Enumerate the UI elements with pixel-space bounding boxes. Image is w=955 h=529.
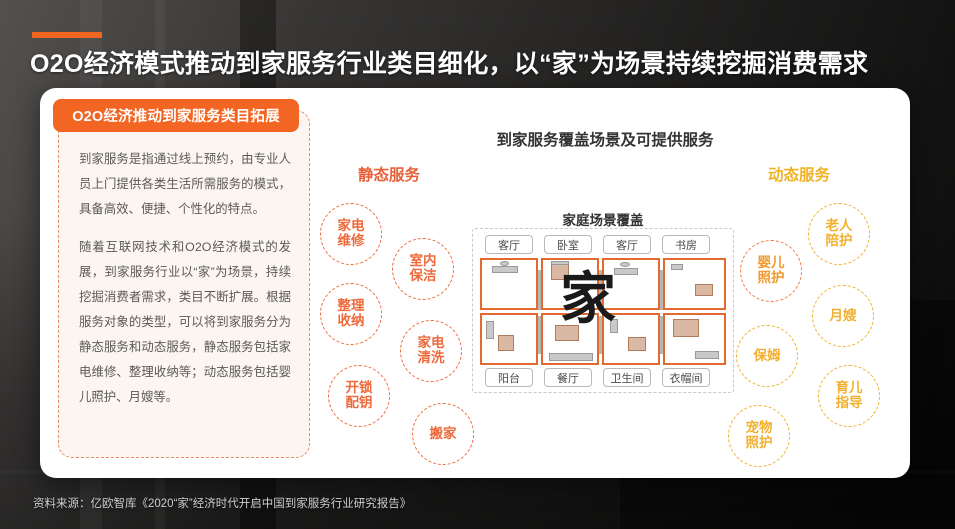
page-title: O2O经济模式推动到家服务行业类目细化，以“家”为场景持续挖掘消费需求 [30,44,930,80]
bubble-line: 保姆 [754,349,781,364]
bubble-line: 宠物 [746,421,773,436]
bubble-line: 清洗 [418,351,445,366]
floorplan-title: 家庭场景覆盖 [472,209,734,230]
service-bubble-nanny[interactable]: 保姆 [736,325,798,387]
info-paragraph-2: 随着互联网技术和O2O经济模式的发展，到家服务行业以“家”为场景，持续挖掘消费者… [79,235,291,410]
service-bubble-lock-key[interactable]: 开锁 配钥 [328,365,390,427]
bubble-line: 室内 [410,254,437,269]
bubble-line: 家电 [338,219,365,234]
room-tag-dining[interactable]: 餐厅 [544,368,592,387]
info-panel-header: O2O经济推动到家服务类目拓展 [53,99,299,132]
bubble-line: 老人 [826,219,853,234]
room-tag-bedroom[interactable]: 卧室 [544,235,592,254]
accent-rule [32,32,102,38]
dynamic-services-heading: 动态服务 [768,163,830,185]
service-bubble-parenting-guidance[interactable]: 育儿 指导 [818,365,880,427]
diagram-title: 到家服务覆盖场景及可提供服务 [470,128,740,150]
service-bubble-pet-care[interactable]: 宠物 照护 [728,405,790,467]
bubble-line: 维修 [338,234,365,249]
service-bubble-organizing-storage[interactable]: 整理 收纳 [320,283,382,345]
bubble-line: 育儿 [836,381,863,396]
service-bubble-appliance-washing[interactable]: 家电 清洗 [400,320,462,382]
bubble-line: 陪护 [826,234,853,249]
bubble-line: 搬家 [430,427,457,442]
info-panel-body: 到家服务是指通过线上预约，由专业人员上门提供各类生活所需服务的模式，具备高效、便… [79,147,291,423]
bubble-line: 婴儿 [758,256,785,271]
bubble-line: 家电 [418,336,445,351]
service-bubble-indoor-cleaning[interactable]: 室内 保洁 [392,238,454,300]
bubble-line: 月嫂 [830,309,857,324]
static-services-heading: 静态服务 [358,163,420,185]
room-tag-living-room-2[interactable]: 客厅 [603,235,651,254]
bubble-line: 照护 [758,271,785,286]
room-tag-bathroom[interactable]: 卫生间 [603,368,651,387]
room-tag-closet[interactable]: 衣帽间 [662,368,710,387]
bubble-line: 开锁 [346,381,373,396]
room-tag-study[interactable]: 书房 [662,235,710,254]
bubble-line: 配钥 [346,396,373,411]
info-panel: O2O经济推动到家服务类目拓展 到家服务是指通过线上预约，由专业人员上门提供各类… [58,110,310,458]
service-bubble-elderly-care[interactable]: 老人 陪护 [808,203,870,265]
bubble-line: 整理 [338,299,365,314]
room-tag-balcony[interactable]: 阳台 [485,368,533,387]
bubble-line: 照护 [746,436,773,451]
bubble-line: 收纳 [338,314,365,329]
service-bubble-moving[interactable]: 搬家 [412,403,474,465]
service-bubble-maternity-matron[interactable]: 月嫂 [812,285,874,347]
home-character-glyph: 家 [560,272,616,328]
service-bubble-home-appliance-repair[interactable]: 家电 维修 [320,203,382,265]
bubble-line: 指导 [836,396,863,411]
service-bubble-infant-care[interactable]: 婴儿 照护 [740,240,802,302]
source-citation: 资料来源：亿欧智库《2020“家”经济时代开启中国到家服务行业研究报告》 [33,495,411,511]
bubble-line: 保洁 [410,269,437,284]
info-paragraph-1: 到家服务是指通过线上预约，由专业人员上门提供各类生活所需服务的模式，具备高效、便… [79,147,291,222]
room-tag-living-room-1[interactable]: 客厅 [485,235,533,254]
